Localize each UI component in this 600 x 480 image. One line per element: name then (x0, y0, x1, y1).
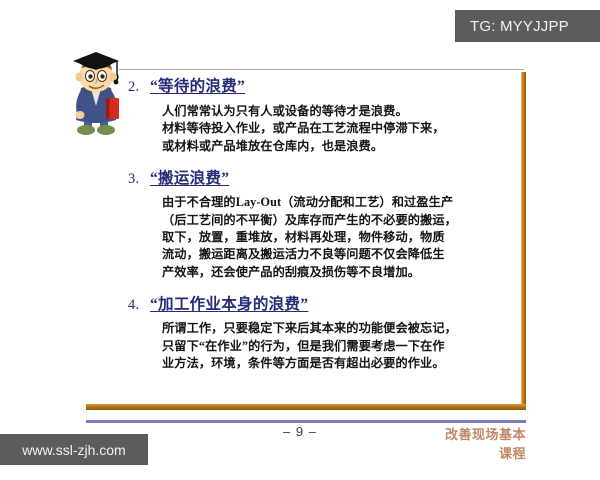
body-line: 或材料或产品堆放在仓库内，也是浪费。 (162, 138, 518, 155)
body-line: （后工艺间的不平衡）及库存而产生的不必要的搬运， (162, 212, 518, 229)
body-line: 由于不合理的Lay-Out（流动分配和工艺）和过盈生产 (162, 194, 518, 211)
telegram-watermark-badge: TG: MYYJJPP (455, 10, 600, 42)
section-number: 2. (128, 79, 150, 96)
course-brand-label: 改善现场基本课程 (440, 424, 526, 462)
graduate-student-icon (57, 50, 135, 140)
section-title: “加工作业本身的浪费” (150, 292, 308, 314)
body-line: 材料等待投入作业，或产品在工艺流程中停滞下来， (162, 120, 518, 137)
site-watermark-badge: www.ssl-zjh.com (0, 434, 148, 465)
section-body: 所谓工作，只要稳定下来后其本来的功能便会被忘记， 只留下“在作业”的行为，但是我… (162, 320, 518, 372)
slide-frame-bottom-accent (86, 404, 526, 410)
section-heading: 3. “搬运浪费” (128, 166, 518, 188)
body-line: 业方法，环境，条件等方面是否有超出必要的作业。 (162, 355, 518, 372)
section-item: 4. “加工作业本身的浪费” 所谓工作，只要稳定下来后其本来的功能便会被忘记， … (128, 292, 518, 372)
section-title: “等待的浪费” (150, 74, 245, 96)
section-item: 3. “搬运浪费” 由于不合理的Lay-Out（流动分配和工艺）和过盈生产 （后… (128, 166, 518, 281)
body-line: 所谓工作，只要稳定下来后其本来的功能便会被忘记， (162, 320, 518, 337)
section-body: 人们常常认为只有人或设备的等待才是浪费。 材料等待投入作业，或产品在工艺流程中停… (162, 103, 518, 155)
slide-content: 2. “等待的浪费” 人们常常认为只有人或设备的等待才是浪费。 材料等待投入作业… (128, 74, 518, 374)
section-number: 3. (128, 171, 150, 188)
section-title: “搬运浪费” (150, 166, 229, 188)
body-line: 只留下“在作业”的行为，但是我们需要考虑一下在作 (162, 338, 518, 355)
section-item: 2. “等待的浪费” 人们常常认为只有人或设备的等待才是浪费。 材料等待投入作业… (128, 74, 518, 155)
section-heading: 4. “加工作业本身的浪费” (128, 292, 518, 314)
section-body: 由于不合理的Lay-Out（流动分配和工艺）和过盈生产 （后工艺间的不平衡）及库… (162, 194, 518, 281)
section-number: 4. (128, 297, 150, 314)
footer-divider (86, 420, 526, 423)
section-heading: 2. “等待的浪费” (128, 74, 518, 96)
body-line: 人们常常认为只有人或设备的等待才是浪费。 (162, 103, 518, 120)
body-line: 流动，搬运距离及搬运活力不良等问题不仅会降低生 (162, 246, 518, 263)
body-line: 取下，放置，重堆放，材料再处理，物件移动，物质 (162, 229, 518, 246)
slide-frame-right-accent (521, 72, 526, 410)
page-number: – 9 – (255, 424, 345, 439)
body-line: 产效率，还会使产品的刮痕及损伤等不良增加。 (162, 264, 518, 281)
